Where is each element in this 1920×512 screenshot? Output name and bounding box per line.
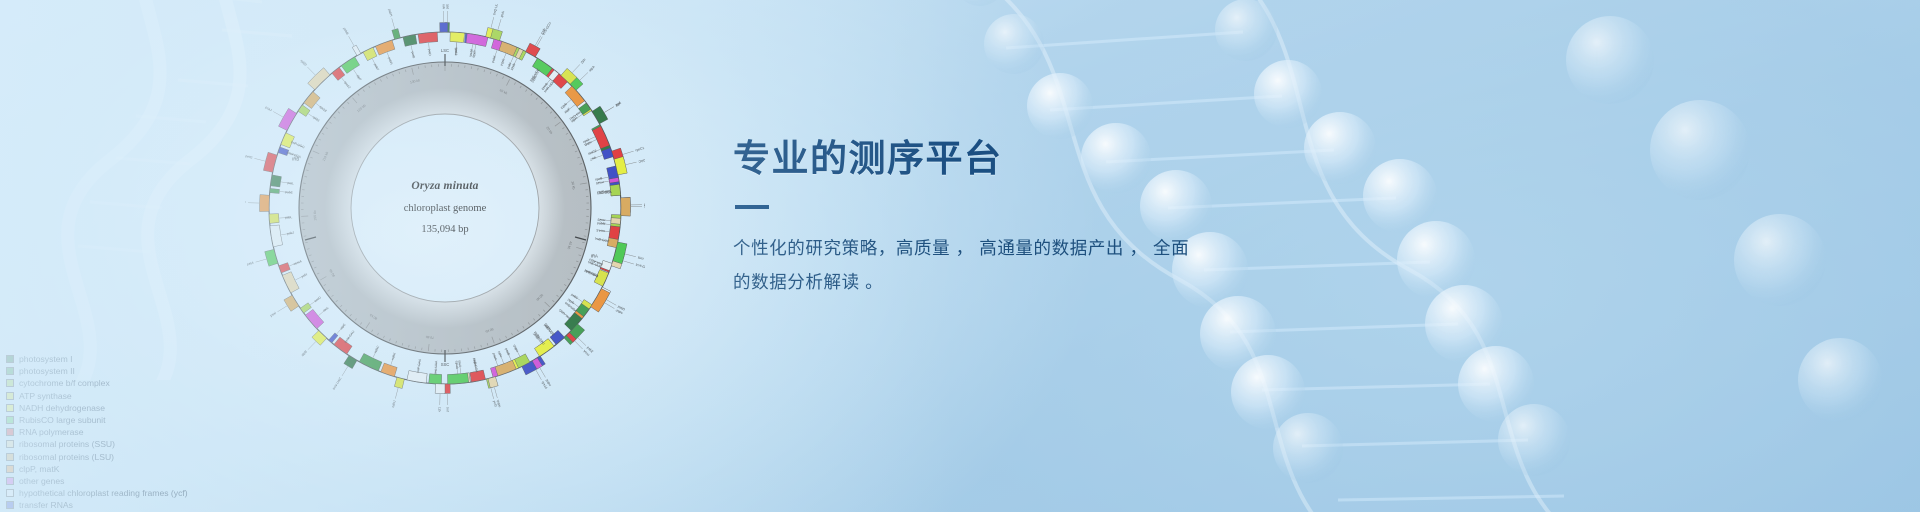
legend-label: hypothetical chloroplast reading frames … [19, 487, 188, 499]
gene-label: psbN [387, 57, 394, 66]
legend-color-swatch [6, 392, 14, 400]
legend-label: ribosomal proteins (LSU) [19, 451, 114, 463]
gene-leader-line [308, 342, 316, 350]
gene-feature [429, 374, 442, 384]
legend-label: RNA polymerase [19, 426, 83, 438]
gene-label: trnT-UGU [445, 407, 449, 412]
gene-feature [270, 175, 281, 187]
gene-label: psbL [285, 215, 293, 219]
gene-label: accD [313, 295, 322, 303]
genome-region-label: IRA [591, 254, 598, 259]
gene-leader-line [607, 300, 617, 305]
legend-item: NADH dehydrogenase [6, 402, 188, 414]
gene-label: trnL-UAA [434, 360, 439, 375]
gene-feature [592, 106, 608, 124]
gene-label: ndhK [391, 351, 398, 360]
legend-color-swatch [6, 477, 14, 485]
gene-label: petB [411, 51, 416, 59]
gene-label: psbT [373, 63, 380, 71]
gene-leader-line [395, 388, 398, 399]
gene-feature [447, 373, 468, 384]
gene-feature [332, 67, 345, 80]
subcopy-line-1: 个性化的研究策略，高质量 ， 高通量的数据产出 ， 全面 [733, 231, 1258, 265]
legend-item: other genes [6, 475, 188, 487]
gene-label: rps12 [343, 80, 351, 89]
gene-leader-line [540, 368, 546, 377]
legend-item: ribosomal proteins (SSU) [6, 438, 188, 450]
gene-label: rpoA [442, 4, 446, 10]
gene-leader-line [491, 388, 494, 399]
gene-leader-line [623, 151, 634, 154]
gene-feature [304, 92, 320, 109]
gene-label: psaI [269, 311, 276, 318]
legend-item: photosystem I [6, 353, 188, 365]
legend-color-swatch [6, 428, 14, 436]
gene-feature [269, 214, 279, 224]
gene-leader-line [578, 338, 586, 346]
legend-label: clpP, matK [19, 463, 59, 475]
gene-leader-line [273, 112, 283, 117]
gene-leader-line [625, 254, 636, 257]
gene-feature [611, 218, 621, 225]
gene-label: rpl14 [499, 58, 505, 66]
gene-feature [344, 356, 357, 369]
gene-feature [278, 108, 296, 130]
gene-feature [263, 152, 277, 172]
legend-label: other genes [19, 475, 64, 487]
genome-region-label: LSC [441, 48, 449, 53]
gene-feature [352, 45, 361, 55]
gene-leader-line [498, 19, 501, 30]
gene-feature [270, 225, 283, 247]
gene-feature [499, 41, 517, 56]
gene-leader-line [278, 306, 287, 312]
gene-feature [359, 353, 382, 370]
legend-color-swatch [6, 489, 14, 497]
gene-label: rps7 [589, 156, 597, 162]
gene-label: rps18 [319, 105, 328, 113]
gene-label: rrn23 [597, 218, 605, 223]
legend-label: cytochrome b/f complex [19, 377, 110, 389]
legend-color-swatch [6, 367, 14, 375]
hero-banner: psbAmatKrps16trnQ-UUGpsbKpsbItrnS-GCUtrn… [0, 0, 1920, 512]
gene-feature [375, 40, 395, 55]
gene-label: petG [245, 154, 253, 160]
gene-leader-line [626, 162, 637, 165]
gene-feature [298, 105, 310, 117]
legend-label: photosystem II [19, 365, 75, 377]
legend-label: photosystem I [19, 353, 73, 365]
gene-label: psbF [245, 200, 246, 204]
legend-item: ATP synthase [6, 390, 188, 402]
legend-color-swatch [6, 465, 14, 473]
gene-label: ndhJ [391, 400, 397, 408]
gene-label: rpl2 [580, 58, 587, 65]
legend-item: RNA polymerase [6, 426, 188, 438]
gene-feature [341, 57, 359, 74]
legend-label: transfer RNAs [19, 499, 73, 511]
gene-feature [435, 384, 445, 394]
subcopy-line-2: 的数据分析解读 。 [733, 265, 1258, 299]
legend-label: ATP synthase [19, 390, 72, 402]
gene-label: atpE [339, 322, 347, 330]
gene-feature [270, 188, 280, 193]
gene-label: psbK [491, 54, 497, 63]
gene-leader-line [491, 17, 494, 28]
legend-color-swatch [6, 501, 14, 509]
gene-label: rrn4.5 [596, 228, 605, 233]
gene-feature [592, 126, 609, 149]
banner-copy: 专业的测序平台 个性化的研究策略，高质量 ， 高通量的数据产出 ， 全面 的数据… [733, 138, 1433, 299]
gene-label: rpoC1 [635, 146, 645, 152]
legend-item: hypothetical chloroplast reading frames … [6, 487, 188, 499]
gene-leader-line [254, 158, 265, 161]
chloroplast-genome-map: psbAmatKrps16trnQ-UUGpsbKpsbItrnS-GCUtrn… [245, 4, 645, 412]
genome-legend: photosystem Iphotosystem IIcytochrome b/… [6, 353, 188, 512]
gene-feature [621, 197, 631, 216]
legend-item: cytochrome b/f complex [6, 377, 188, 389]
legend-label: RubisCO large subunit [19, 414, 105, 426]
gene-feature [610, 184, 621, 196]
gene-feature [392, 29, 400, 40]
legend-item: photosystem II [6, 365, 188, 377]
gene-label: atpB [300, 349, 308, 357]
gene-label: rps8 [500, 11, 506, 18]
gene-leader-line [605, 303, 614, 309]
gene-leader-line [536, 370, 541, 380]
gene-feature [394, 377, 404, 388]
gene-label: psbC [570, 293, 579, 301]
gene-label: trnV-UAC [332, 376, 343, 390]
legend-color-swatch [6, 453, 14, 461]
gene-label: psbB [342, 27, 350, 36]
gene-leader-line [256, 259, 267, 262]
gene-label: trnL-UAG [558, 308, 571, 321]
gene-feature [363, 47, 377, 60]
title-underline-rule [735, 205, 769, 209]
gene-label: rps11 [454, 47, 459, 55]
gene-leader-line [307, 67, 315, 75]
gene-label: rpl20 [300, 59, 308, 67]
legend-label: ribosomal proteins (SSU) [19, 438, 115, 450]
legend-label: NADH dehydrogenase [19, 402, 105, 414]
legend-color-swatch [6, 379, 14, 387]
gene-label: ndhC [373, 344, 380, 353]
gene-label: atpA [588, 64, 596, 72]
gene-feature [609, 226, 620, 240]
gene-label: petA [247, 260, 255, 266]
gene-label: rrn5 [637, 255, 644, 260]
gene-label: trnD-GUC [595, 236, 611, 243]
gene-label: trnV-GAC [637, 157, 645, 164]
genome-tick-label: 100 kb [313, 210, 318, 221]
gene-label: ndhI [497, 350, 503, 357]
gene-label: trnI-GAU [596, 189, 610, 194]
gene-feature [591, 289, 610, 313]
gene-label: ycf1 [437, 407, 441, 412]
genome-circle-svg: psbAmatKrps16trnQ-UUGpsbKpsbItrnS-GCUtrn… [245, 4, 645, 412]
page-title: 专业的测序平台 [733, 138, 1433, 181]
gene-label: trnF-GAA [416, 358, 422, 373]
gene-label: clpP [356, 74, 363, 82]
gene-label: psaB [504, 347, 511, 356]
gene-leader-line [494, 387, 497, 398]
gene-label: petL [287, 181, 294, 186]
gene-label: rbcL [322, 305, 330, 312]
gene-label: cemA [293, 259, 303, 266]
genome-region-label: SSC [441, 362, 450, 367]
legend-item: ribosomal proteins (LSU) [6, 451, 188, 463]
gene-label: trnM-CAU [344, 329, 356, 344]
gene-label: ndhG [512, 343, 519, 352]
legend-color-swatch [6, 355, 14, 363]
genome-region-label: IRB [292, 157, 299, 162]
gene-label: psbJ [287, 231, 295, 236]
gene-label: rpl33 [312, 115, 320, 123]
gene-label: rps15 [454, 360, 459, 369]
gene-label: psaJ [265, 105, 273, 112]
gene-leader-line [349, 36, 354, 46]
legend-color-swatch [6, 404, 14, 412]
legend-color-swatch [6, 440, 14, 448]
gene-feature [418, 32, 438, 43]
legend-color-swatch [6, 416, 14, 424]
gene-feature [260, 195, 270, 212]
gene-feature [450, 32, 465, 42]
gene-feature [440, 22, 448, 32]
gene-feature [466, 33, 488, 46]
gene-label: rpoC2 [587, 149, 597, 156]
gene-label: petD [427, 49, 432, 57]
gene-leader-line [575, 341, 583, 349]
gene-label: psbE [285, 190, 294, 195]
legend-item: RubisCO large subunit [6, 414, 188, 426]
gene-label: psbH [387, 8, 393, 17]
gene-label: trnY-GUA [635, 263, 645, 271]
legend-item: transfer RNAs [6, 499, 188, 511]
legend-item: clpP, matK [6, 463, 188, 475]
gene-leader-line [572, 64, 580, 72]
banner-subcopy: 个性化的研究策略，高质量 ， 高通量的数据产出 ， 全面 的数据分析解读 。 [733, 231, 1258, 299]
gene-leader-line [605, 107, 614, 113]
gene-leader-line [580, 72, 588, 80]
gene-leader-line [342, 367, 348, 376]
gene-feature [526, 43, 541, 57]
gene-feature [265, 249, 278, 266]
gene-label: trnP-UGG [290, 140, 305, 150]
gene-label: ycf4 [301, 272, 308, 278]
gene-label: trnQ-UUG [492, 4, 500, 16]
gene-leader-line [623, 261, 634, 264]
gene-feature [381, 363, 397, 377]
gene-feature [284, 295, 299, 311]
gene-leader-line [392, 18, 395, 29]
